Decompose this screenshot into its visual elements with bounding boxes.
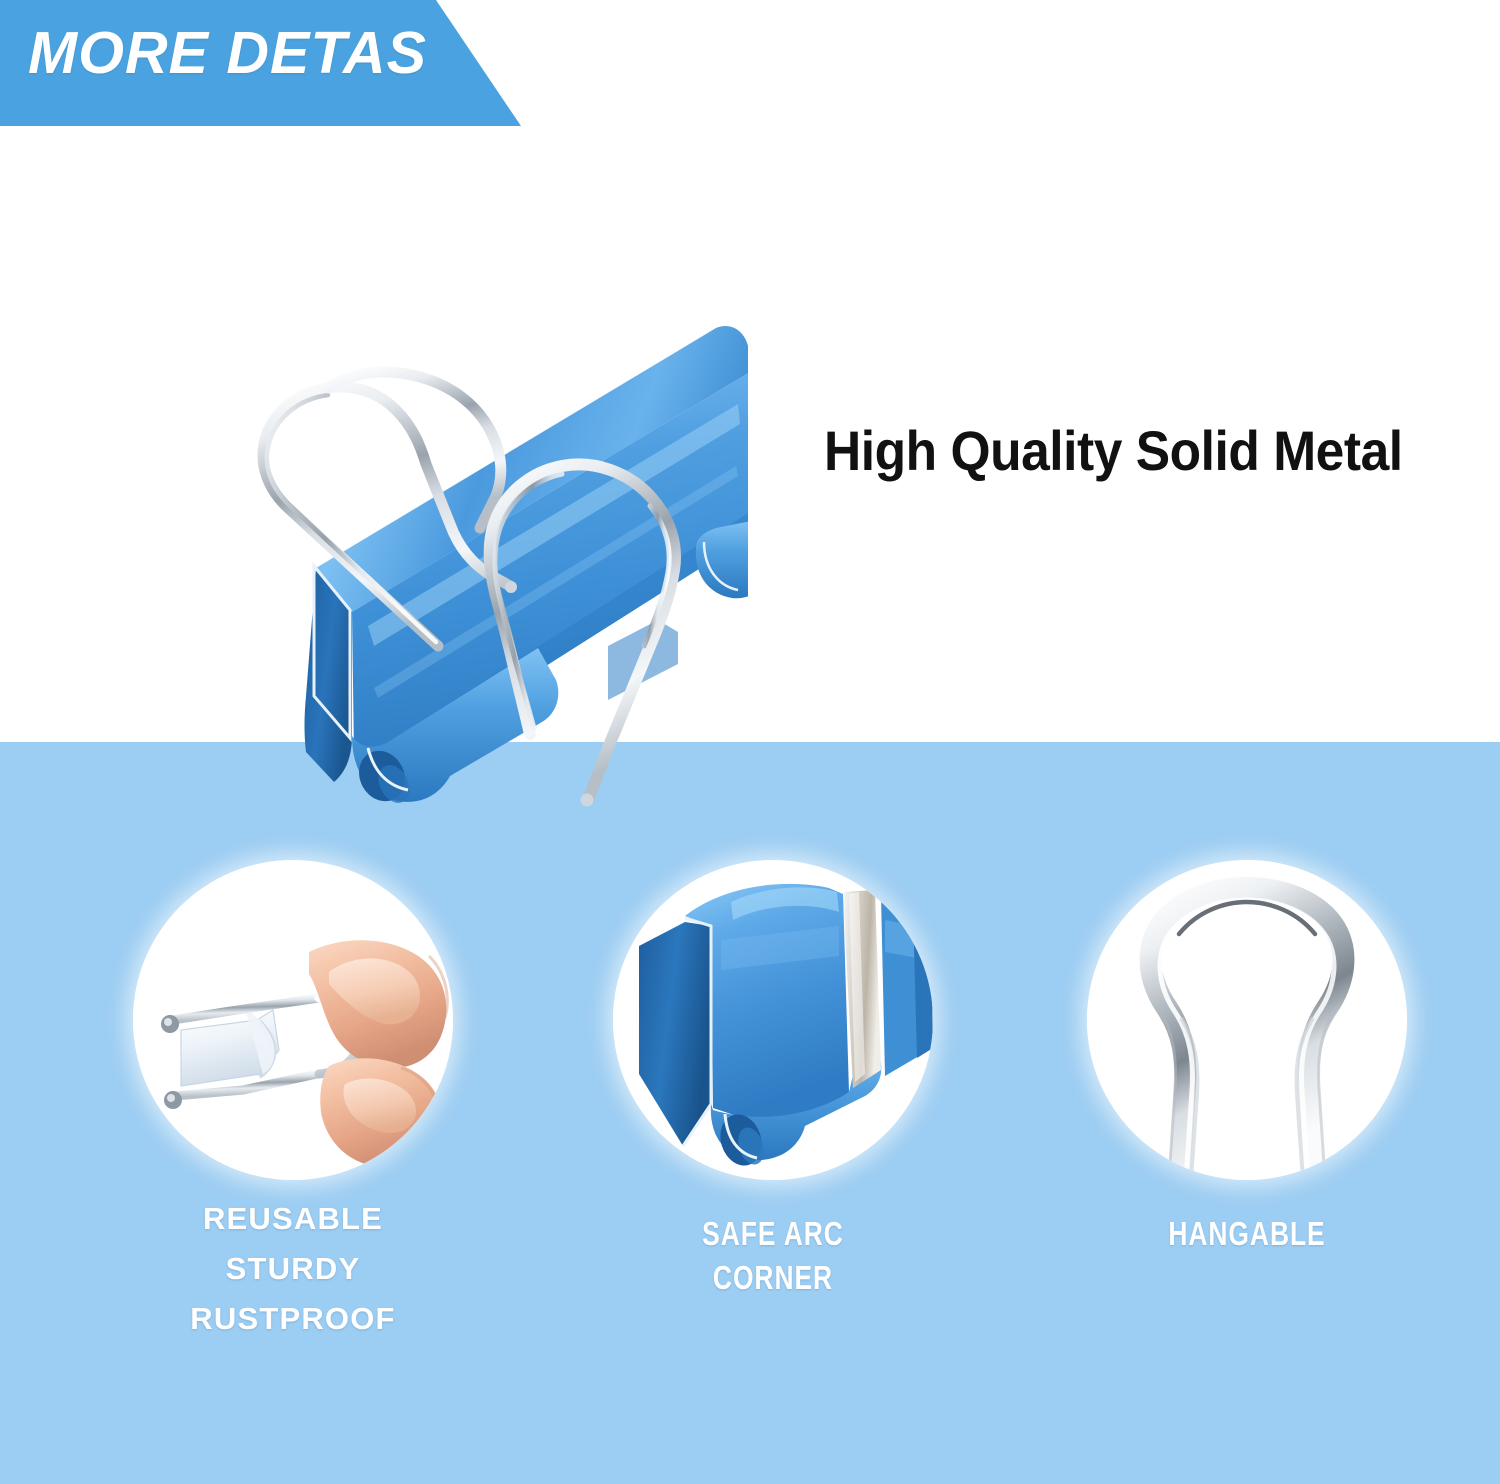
caption-line: HANGABLE (1115, 1212, 1379, 1256)
hero-binder-clip-image (138, 176, 748, 826)
blue-clip-arc-corner-photo (613, 860, 933, 1180)
caption-line: REUSABLE (128, 1194, 458, 1244)
feature-safe-arc-corner-caption: SAFE ARC CORNER (641, 1212, 905, 1300)
silver-wire-handle-loop-photo (1087, 860, 1407, 1180)
page-title: High Quality Solid Metal (824, 418, 1403, 483)
arc-corner-icon (613, 860, 933, 1180)
caption-line: STURDY (128, 1244, 458, 1294)
infographic-canvas: MORE DETAS High Quality Solid Metal (0, 0, 1500, 1484)
feature-reusable-caption: REUSABLE STURDY RUSTPROOF (128, 1194, 458, 1344)
feature-hangable: HANGABLE (1082, 860, 1412, 1256)
caption-line: SAFE ARC CORNER (641, 1212, 905, 1300)
feature-reusable: REUSABLE STURDY RUSTPROOF (128, 860, 458, 1344)
wire-handle-loop-icon (1087, 860, 1407, 1180)
feature-hangable-caption: HANGABLE (1115, 1212, 1379, 1256)
feature-row: REUSABLE STURDY RUSTPROOF (0, 860, 1500, 1460)
hand-squeezing-clip-photo (133, 860, 453, 1180)
caption-line: RUSTPROOF (128, 1294, 458, 1344)
banner: MORE DETAS (0, 0, 560, 128)
hand-squeezing-clip-icon (133, 860, 453, 1180)
banner-title: MORE DETAS (28, 24, 427, 83)
feature-safe-arc-corner: SAFE ARC CORNER (608, 860, 938, 1300)
